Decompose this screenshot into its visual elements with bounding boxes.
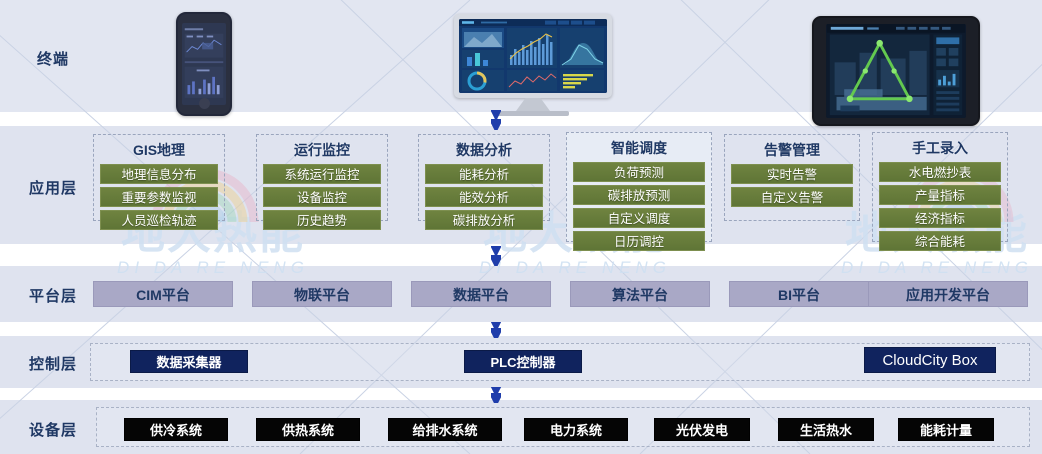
control-item-data-collector[interactable]: 数据采集器 [130, 350, 248, 373]
platform-item-iot[interactable]: 物联平台 [252, 281, 392, 307]
app-item[interactable]: 系统运行监控 [263, 164, 381, 184]
arrow-control-device [491, 387, 501, 403]
app-group-title: 运行监控 [263, 140, 381, 160]
layer-label-control: 控制层 [18, 353, 88, 374]
platform-item-app-dev[interactable]: 应用开发平台 [868, 281, 1028, 307]
app-item[interactable]: 日历调控 [573, 231, 705, 251]
app-group-title: 手工录入 [879, 138, 1001, 158]
phone-home-button [170, 98, 238, 109]
app-group-title: 数据分析 [425, 140, 543, 160]
monitor-stand-neck [516, 98, 550, 111]
app-group-gis[interactable]: GIS地理 地理信息分布 重要参数监视 人员巡检轨迹 [93, 134, 225, 221]
app-item[interactable]: 历史趋势 [263, 210, 381, 230]
device-item-photovoltaic[interactable]: 光伏发电 [654, 418, 750, 441]
layer-label-platform: 平台层 [18, 285, 88, 306]
app-item[interactable]: 经济指标 [879, 208, 1001, 228]
app-item[interactable]: 自定义调度 [573, 208, 705, 228]
app-item[interactable]: 实时告警 [731, 164, 853, 184]
app-item[interactable]: 地理信息分布 [100, 164, 218, 184]
tablet-mockup [812, 16, 980, 126]
tablet-3d-scene-graphic [826, 24, 966, 118]
control-item-cloudcity-box[interactable]: CloudCity Box [864, 347, 996, 373]
platform-item-cim[interactable]: CIM平台 [93, 281, 233, 307]
arrow-terminal-application [491, 110, 501, 130]
app-item[interactable]: 综合能耗 [879, 231, 1001, 251]
app-group-monitoring[interactable]: 运行监控 系统运行监控 设备监控 历史趋势 [256, 134, 388, 221]
device-item-metering[interactable]: 能耗计量 [898, 418, 994, 441]
app-item[interactable]: 能效分析 [425, 187, 543, 207]
monitor-bezel [454, 14, 612, 98]
layer-label-terminal: 终端 [18, 48, 88, 69]
device-item-power[interactable]: 电力系统 [524, 418, 628, 441]
app-item[interactable]: 碳排放分析 [425, 210, 543, 230]
desktop-monitor-mockup [454, 14, 612, 116]
app-group-title: 告警管理 [731, 140, 853, 160]
device-item-water[interactable]: 给排水系统 [388, 418, 502, 441]
control-item-plc[interactable]: PLC控制器 [464, 350, 582, 373]
arrow-application-platform [491, 246, 501, 266]
app-item[interactable]: 水电燃抄表 [879, 162, 1001, 182]
phone-dashboard-graphic [182, 23, 226, 105]
device-item-hot-water[interactable]: 生活热水 [778, 418, 874, 441]
app-item[interactable]: 负荷预测 [573, 162, 705, 182]
layer-label-application: 应用层 [18, 177, 88, 198]
app-item[interactable]: 能耗分析 [425, 164, 543, 184]
app-group-alarm[interactable]: 告警管理 实时告警 自定义告警 [724, 134, 860, 221]
phone-screen [182, 23, 226, 105]
app-item[interactable]: 重要参数监视 [100, 187, 218, 207]
app-group-title: 智能调度 [573, 138, 705, 158]
platform-item-bi[interactable]: BI平台 [729, 281, 869, 307]
app-item[interactable]: 碳排放预测 [573, 185, 705, 205]
app-group-data-analysis[interactable]: 数据分析 能耗分析 能效分析 碳排放分析 [418, 134, 550, 221]
architecture-diagram: 地大热能 DI DA RE NENG 地大热能 DI DA RE NENG 地大… [0, 0, 1042, 454]
app-group-title: GIS地理 [100, 140, 218, 160]
platform-item-algorithm[interactable]: 算法平台 [570, 281, 710, 307]
device-item-cooling[interactable]: 供冷系统 [124, 418, 228, 441]
device-item-heating[interactable]: 供热系统 [256, 418, 360, 441]
monitor-stand-base [497, 111, 569, 116]
app-item[interactable]: 人员巡检轨迹 [100, 210, 218, 230]
app-group-manual-entry[interactable]: 手工录入 水电燃抄表 产量指标 经济指标 综合能耗 [872, 132, 1008, 242]
arrow-platform-control [491, 322, 501, 338]
layer-label-device: 设备层 [18, 419, 88, 440]
platform-item-data[interactable]: 数据平台 [411, 281, 551, 307]
app-item[interactable]: 产量指标 [879, 185, 1001, 205]
app-group-smart-dispatch[interactable]: 智能调度 负荷预测 碳排放预测 自定义调度 日历调控 [566, 132, 712, 242]
monitor-screen [459, 19, 607, 93]
app-item[interactable]: 自定义告警 [731, 187, 853, 207]
monitor-dashboard-graphic [459, 19, 607, 93]
tablet-screen [826, 24, 966, 118]
app-item[interactable]: 设备监控 [263, 187, 381, 207]
